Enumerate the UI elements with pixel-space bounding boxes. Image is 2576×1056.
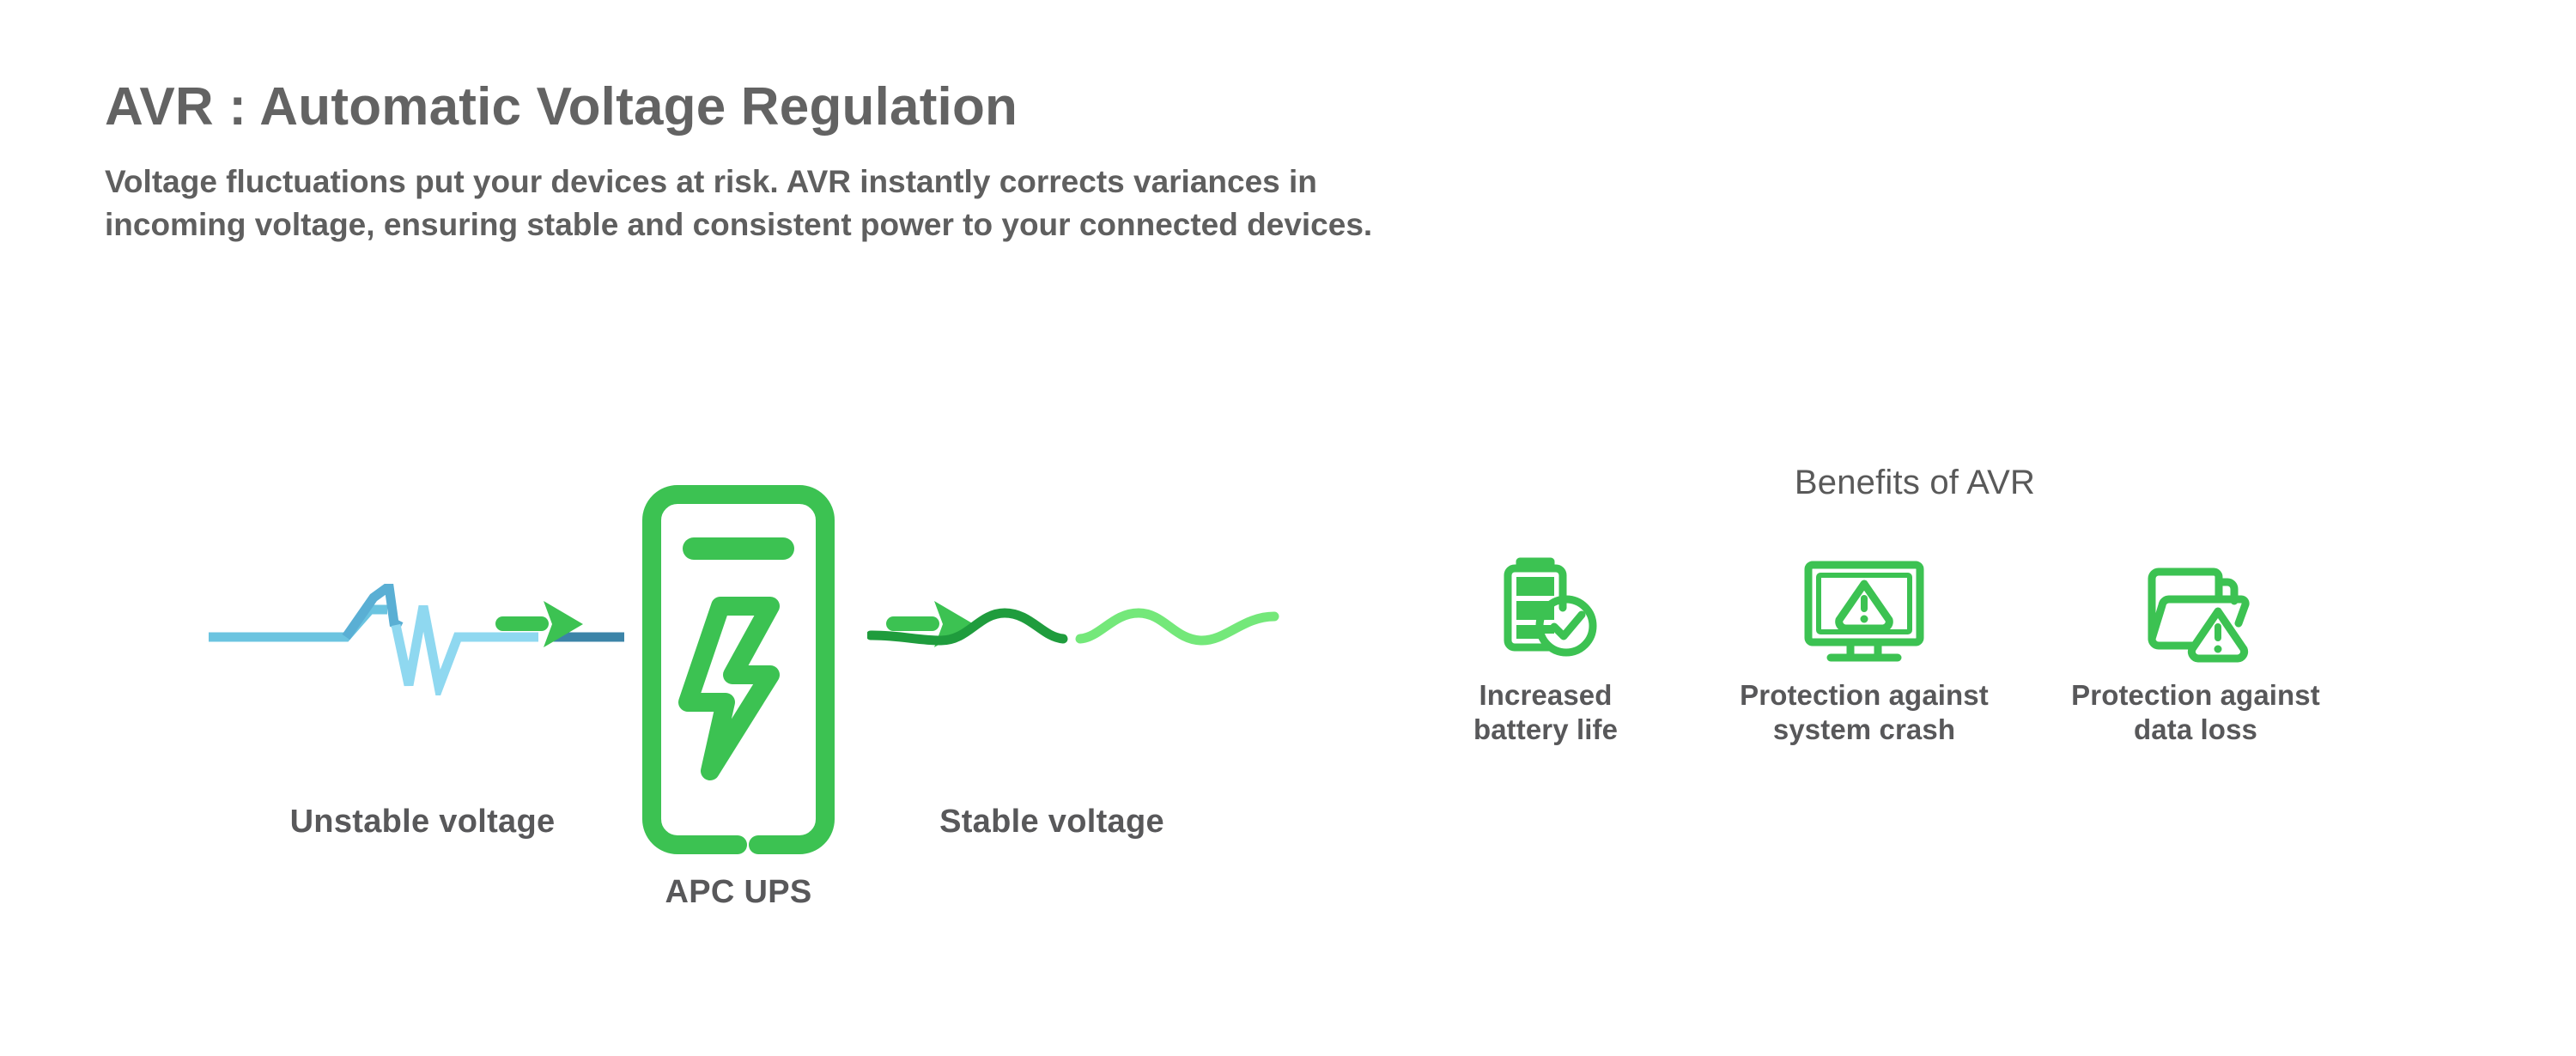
ups-device-icon	[631, 481, 846, 859]
monitor-warning-icon	[1800, 553, 1929, 665]
infographic-canvas: AVR : Automatic Voltage Regulation Volta…	[0, 0, 2576, 1056]
benefit-label-line-1: Increased	[1473, 678, 1618, 713]
benefit-item-battery: Increased battery life	[1417, 553, 1674, 748]
header-block: AVR : Automatic Voltage Regulation Volta…	[105, 79, 1994, 247]
subtitle-line-2: incoming voltage, ensuring stable and co…	[105, 203, 1874, 246]
benefit-label-line-2: battery life	[1473, 713, 1618, 747]
apc-ups-text: APC UPS	[665, 874, 811, 910]
benefits-list: Increased battery life	[1408, 553, 2490, 748]
benefit-label-data-loss: Protection against data loss	[2071, 678, 2320, 748]
label-stable-voltage: Stable voltage	[889, 804, 1215, 841]
folder-warning-icon	[2131, 553, 2260, 665]
benefits-title: Benefits of AVR	[1408, 464, 2421, 502]
benefit-label-line-2: system crash	[1740, 713, 1989, 747]
unstable-voltage-text: Unstable voltage	[290, 804, 556, 840]
benefit-label-battery: Increased battery life	[1473, 678, 1618, 748]
benefit-label-system-crash: Protection against system crash	[1740, 678, 1989, 748]
benefits-section: Benefits of AVR	[1408, 464, 2490, 876]
page-title: AVR : Automatic Voltage Regulation	[105, 79, 1994, 135]
subtitle-line-1: Voltage fluctuations put your devices at…	[105, 161, 1874, 203]
benefit-item-data-loss: Protection against data loss	[2054, 553, 2337, 748]
benefit-item-system-crash: Protection against system crash	[1722, 553, 2006, 748]
stable-voltage-text: Stable voltage	[939, 804, 1164, 840]
page-subtitle: Voltage fluctuations put your devices at…	[105, 161, 1874, 247]
label-apc-ups: APC UPS	[601, 874, 876, 911]
benefit-label-line-1: Protection against	[1740, 678, 1989, 713]
arrow-right-icon	[494, 598, 588, 651]
stable-sine-wave-icon	[867, 574, 1279, 677]
battery-check-icon	[1489, 553, 1602, 665]
benefit-label-line-2: data loss	[2071, 713, 2320, 747]
benefit-label-line-1: Protection against	[2071, 678, 2320, 713]
label-unstable-voltage: Unstable voltage	[234, 804, 611, 841]
